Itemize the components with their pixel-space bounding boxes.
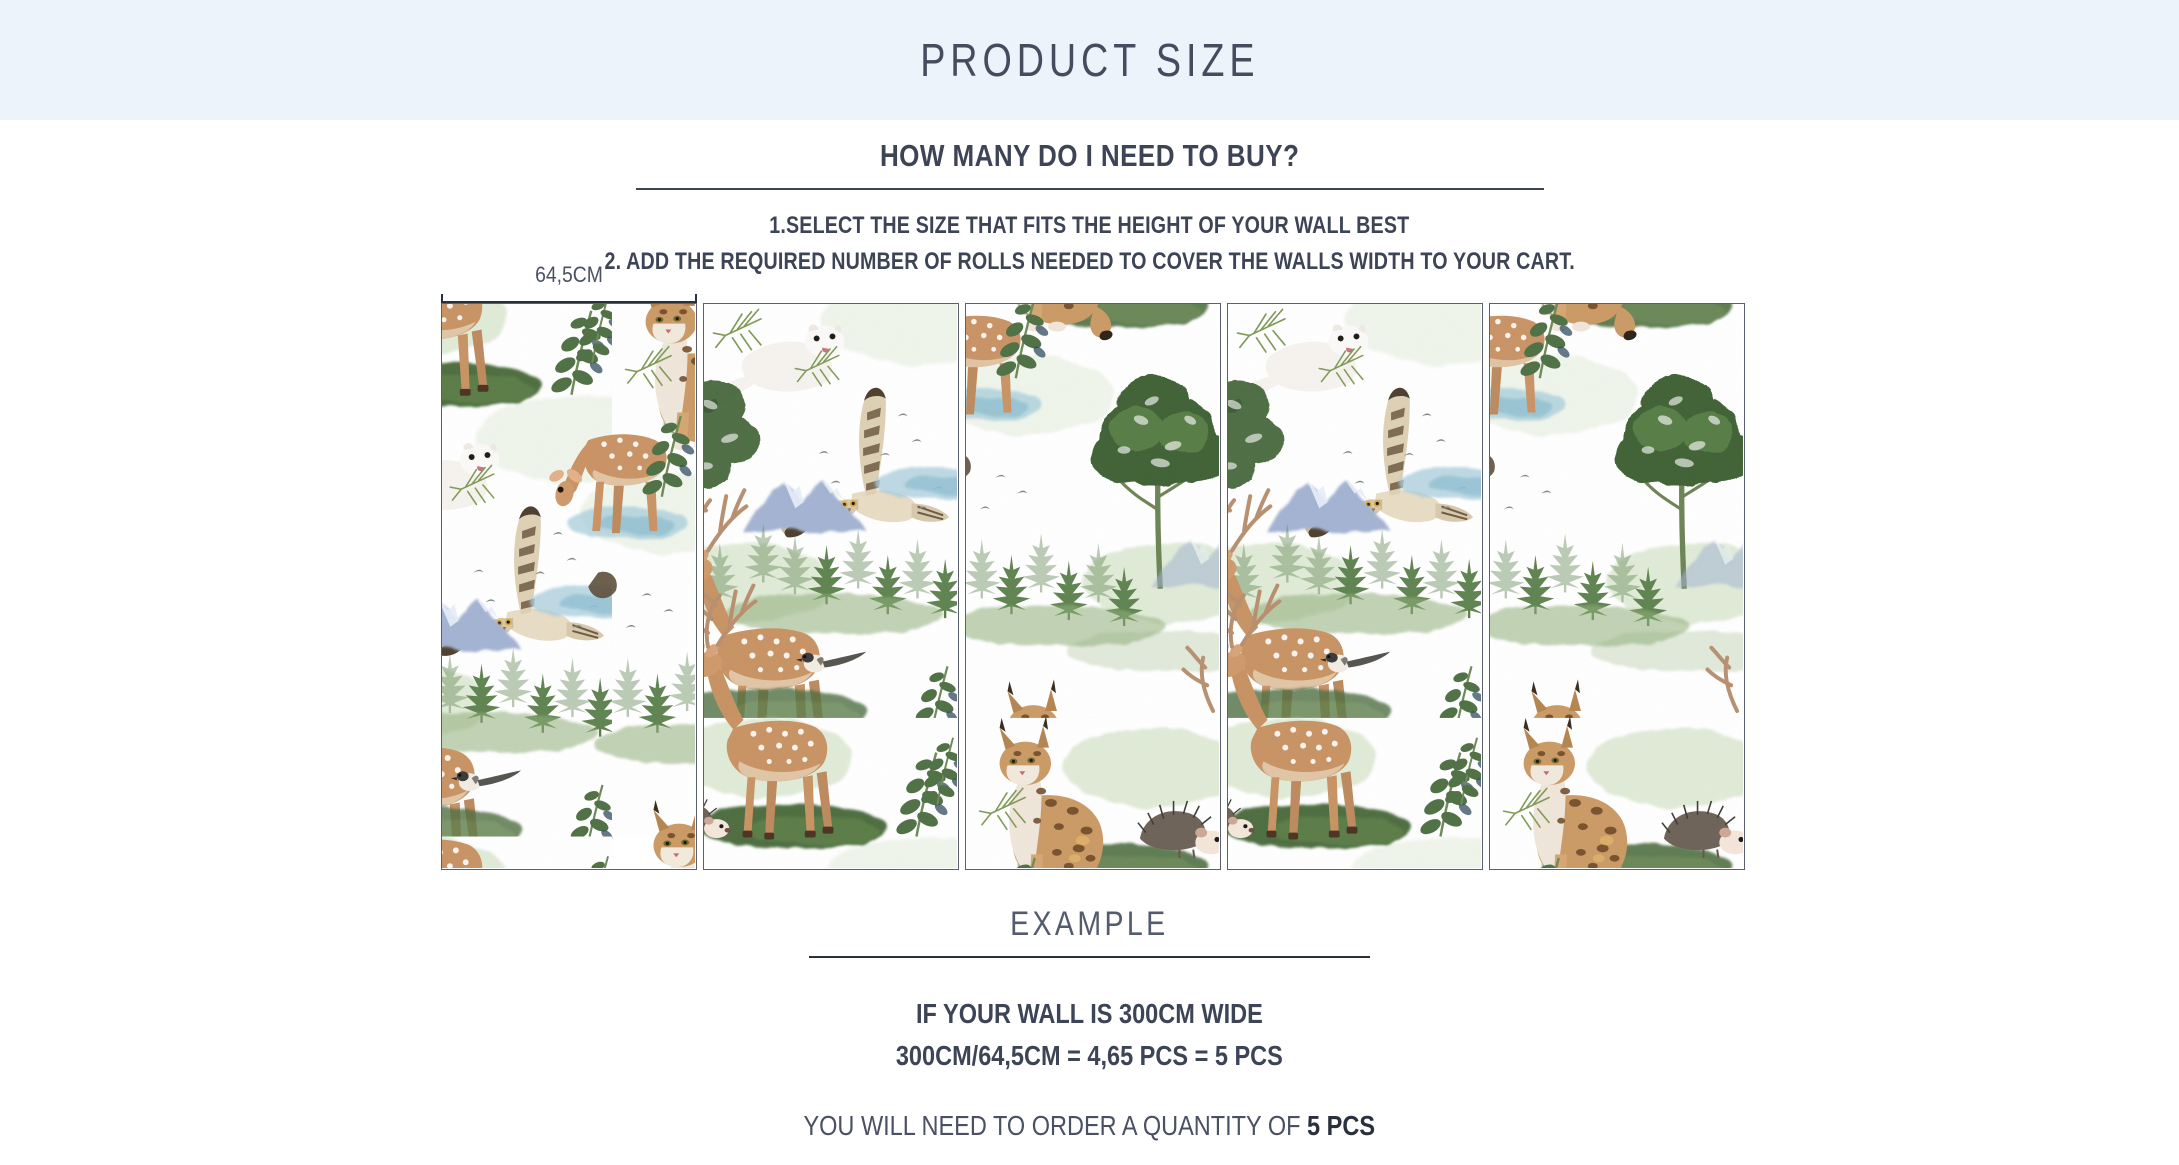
- wallpaper-panel[interactable]: [1489, 303, 1745, 870]
- example-order-quantity: YOU WILL NEED TO ORDER A QUANTITY OF 5 P…: [804, 1110, 1376, 1142]
- wallpaper-panel[interactable]: [1227, 303, 1483, 870]
- example-order-bold: 5 PCS: [1307, 1110, 1375, 1141]
- wallpaper-panel[interactable]: [703, 303, 959, 870]
- example-heading: EXAMPLE: [1010, 905, 1168, 944]
- wallpaper-panel-row: [441, 303, 1745, 870]
- width-dimension: 64,5CM: [441, 262, 697, 308]
- wallpaper-artwork: [1228, 304, 1481, 868]
- instruction-step-1: 1.SELECT THE SIZE THAT FITS THE HEIGHT O…: [769, 212, 1409, 240]
- width-dimension-label: 64,5CM: [456, 262, 681, 288]
- wallpaper-artwork: [966, 304, 1219, 868]
- wallpaper-panel[interactable]: [441, 303, 697, 870]
- example-section: EXAMPLE IF YOUR WALL IS 300CM WIDE 300CM…: [0, 905, 2179, 1142]
- wallpaper-artwork: [704, 304, 957, 868]
- instructions-section: HOW MANY DO I NEED TO BUY? 1.SELECT THE …: [0, 120, 2179, 276]
- page-title: PRODUCT SIZE: [920, 33, 1259, 87]
- wallpaper-panel[interactable]: [965, 303, 1221, 870]
- wallpaper-artwork: [442, 304, 695, 868]
- example-order-prefix: YOU WILL NEED TO ORDER A QUANTITY OF: [804, 1110, 1308, 1141]
- example-calculation: 300CM/64,5CM = 4,65 PCS = 5 PCS: [896, 1040, 1283, 1072]
- wallpaper-artwork: [1490, 304, 1743, 868]
- page-header: PRODUCT SIZE: [0, 0, 2179, 120]
- instruction-step-2: 2. ADD THE REQUIRED NUMBER OF ROLLS NEED…: [604, 248, 1574, 276]
- buy-question-heading: HOW MANY DO I NEED TO BUY?: [880, 138, 1299, 174]
- example-wall-width: IF YOUR WALL IS 300CM WIDE: [916, 998, 1263, 1030]
